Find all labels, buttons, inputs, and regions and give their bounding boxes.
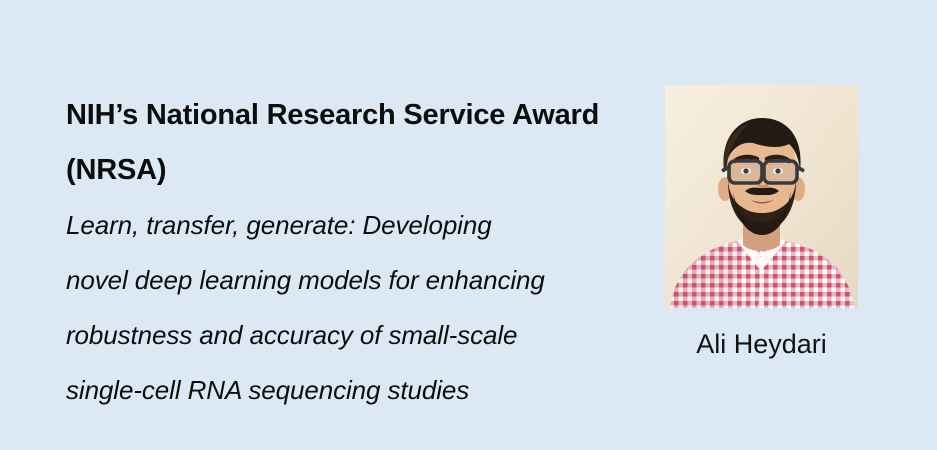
award-text-column: NIH’s National Research Service Award (N… [66,88,646,418]
award-title-line-2: (NRSA) [66,143,646,198]
award-title: NIH’s National Research Service Award (N… [66,88,646,198]
award-title-line-1: NIH’s National Research Service Award [66,88,646,143]
project-title-line-3: robustness and accuracy of small-scale [66,308,646,363]
project-title-line-4: single-cell RNA sequencing studies [66,363,646,418]
recipient-name: Ali Heydari [665,308,858,360]
project-title-line-2: novel deep learning models for enhancing [66,253,646,308]
slide-canvas: NIH’s National Research Service Award (N… [0,0,937,450]
project-title-line-1: Learn, transfer, generate: Developing [66,198,646,253]
portrait-illustration [665,85,858,308]
recipient-photo-block: Ali Heydari [665,85,858,360]
project-title: Learn, transfer, generate: Developing no… [66,198,646,418]
portrait-photo [665,85,858,308]
